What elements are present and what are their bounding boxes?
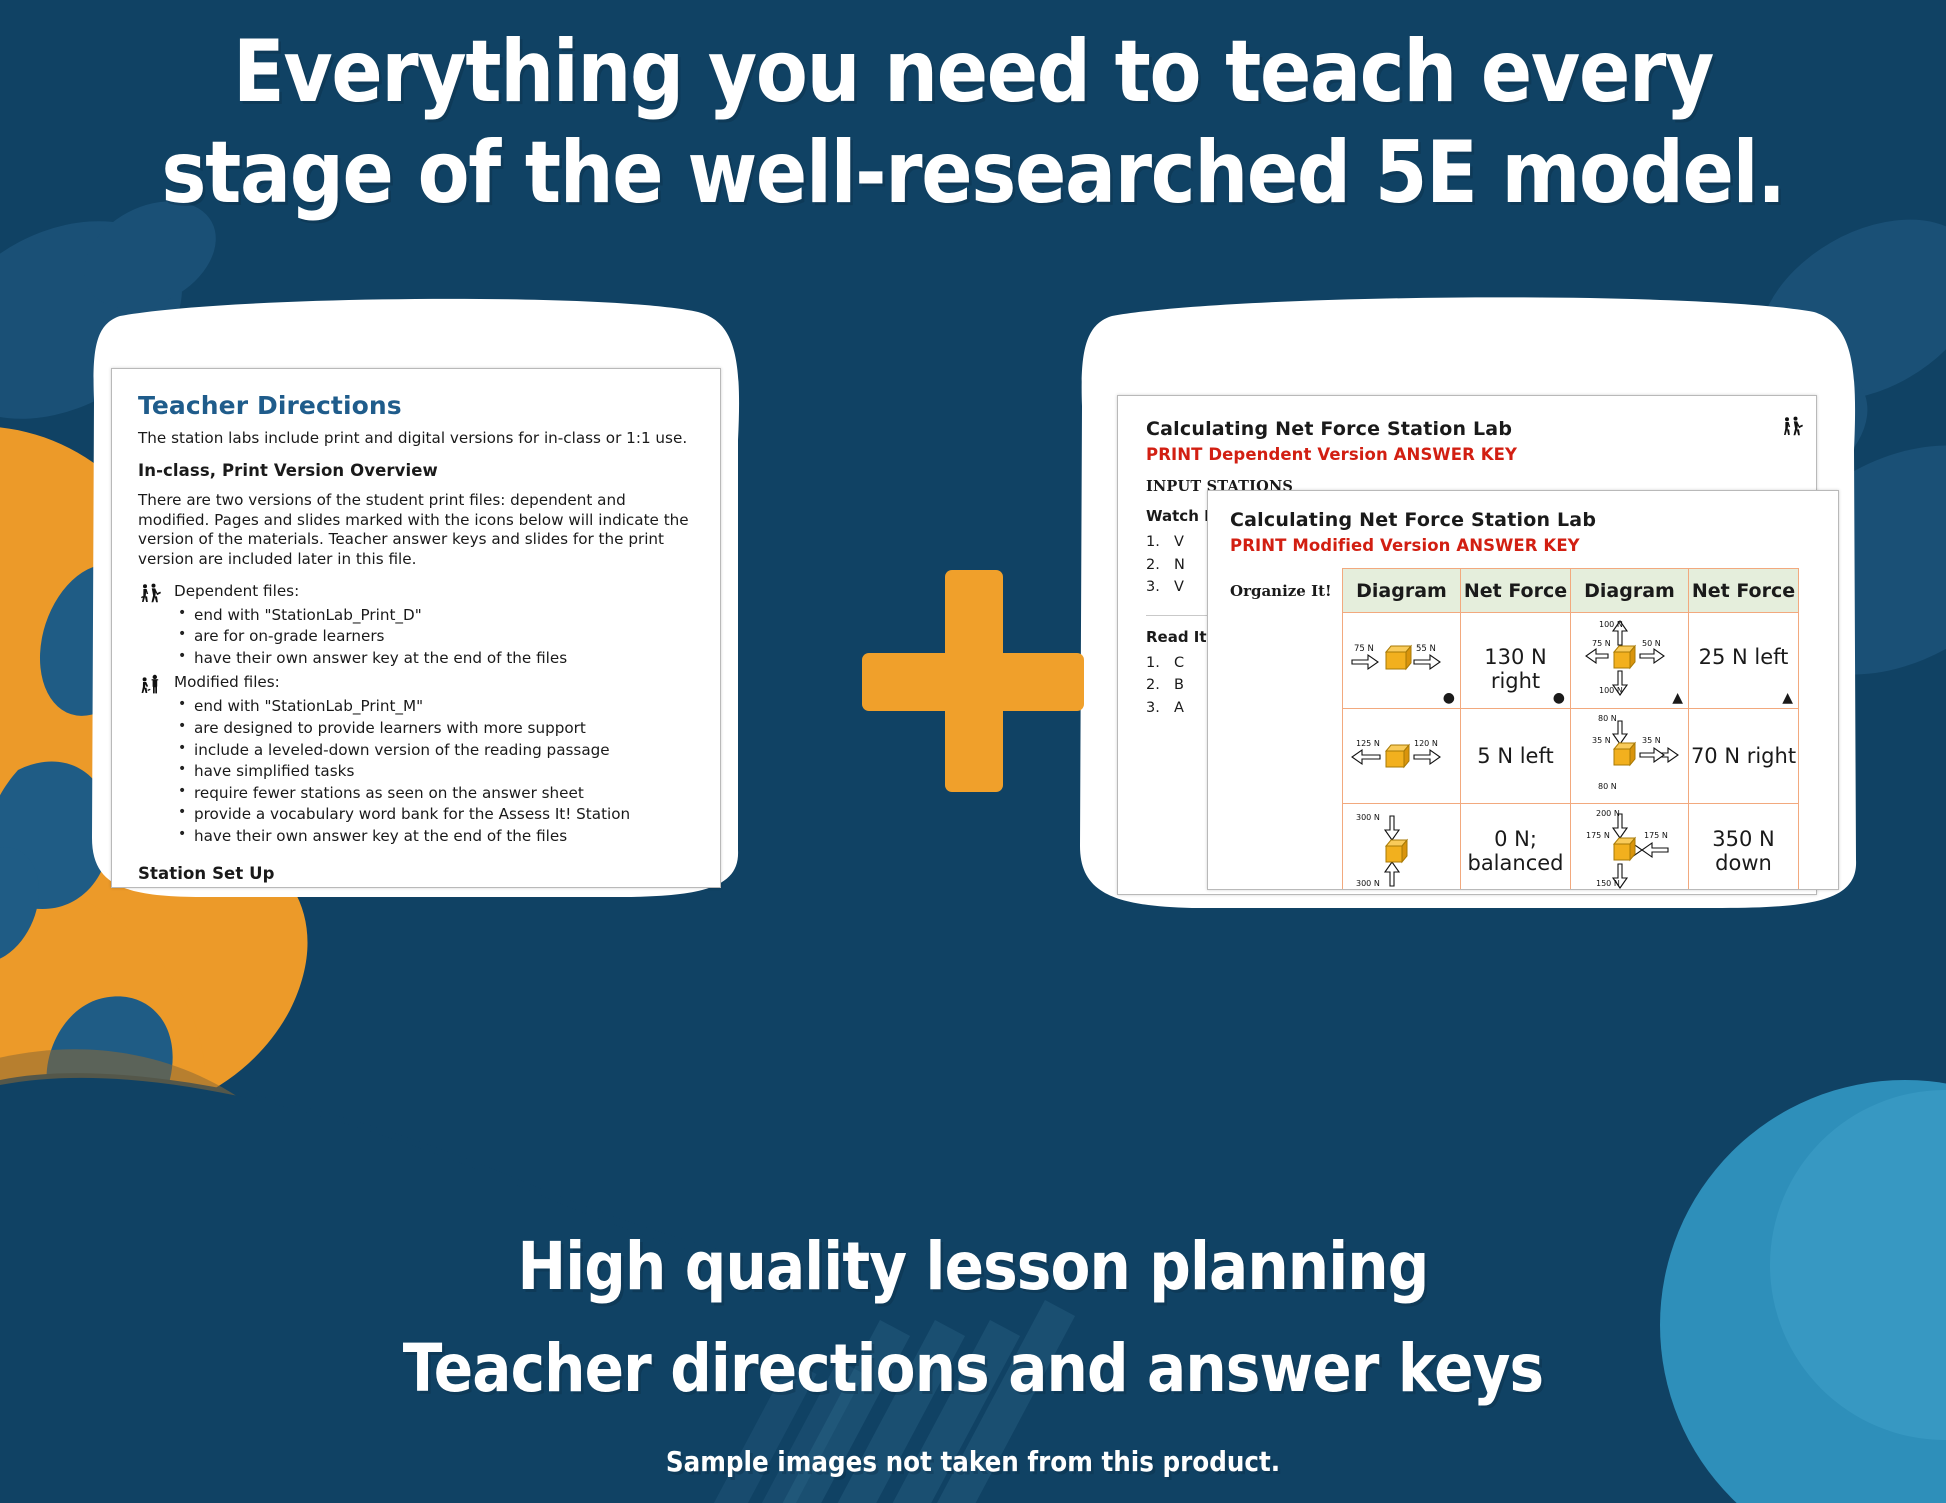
left-doc-section-heading: In-class, Print Version Overview — [138, 461, 694, 480]
bottom-line-1: High quality lesson planning — [117, 1228, 1829, 1305]
net-force-cell: 5 N left — [1461, 709, 1571, 803]
force-diagram: 200 N 150 N 175 N 175 N — [1572, 804, 1688, 890]
people-running-icon — [1782, 416, 1804, 440]
svg-text:75 N: 75 N — [1592, 639, 1611, 648]
back-doc-title: Calculating Net Force Station Lab — [1146, 418, 1788, 440]
right-document-card: Calculating Net Force Station Lab PRINT … — [1072, 290, 1862, 910]
force-diagram: 125 N 120 N — [1344, 711, 1460, 795]
file-group-dependent: Dependent files: — [138, 582, 694, 603]
diagram-cell: 125 N 120 N — [1343, 709, 1461, 803]
modified-file-list: end with "StationLab_Print_M" are design… — [178, 696, 694, 847]
front-doc-subtitle: PRINT Modified Version ANSWER KEY — [1230, 536, 1816, 555]
modified-marker-icon: ▲ — [1782, 691, 1793, 705]
svg-text:300 N: 300 N — [1356, 879, 1380, 888]
file-group-modified: Modified files: — [138, 673, 694, 694]
diagram-cell: 75 N 55 N ● — [1343, 613, 1461, 709]
front-doc-title: Calculating Net Force Station Lab — [1230, 509, 1816, 531]
left-doc-intro: The station labs include print and digit… — [138, 429, 694, 449]
list-item: include a leveled-down version of the re… — [178, 740, 694, 762]
list-item: provide a vocabulary word bank for the A… — [178, 804, 694, 826]
column-header: Net Force — [1461, 569, 1571, 613]
people-running-icon — [138, 582, 164, 603]
list-item: end with "StationLab_Print_D" — [178, 605, 694, 627]
diagram-cell: 300 N 300 N — [1343, 803, 1461, 890]
file-group-label: Dependent files: — [174, 582, 299, 602]
organize-it-table: Diagram Net Force Diagram Net Force — [1342, 568, 1799, 890]
svg-text:80 N: 80 N — [1598, 782, 1617, 791]
table-row: 125 N 120 N 5 N left — [1343, 709, 1799, 803]
force-diagram: 300 N 300 N — [1344, 804, 1460, 890]
svg-text:100 N: 100 N — [1599, 620, 1623, 629]
bottom-line-2: Teacher directions and answer keys — [117, 1330, 1829, 1407]
list-item: have their own answer key at the end of … — [178, 826, 694, 848]
modified-marker-icon: ▲ — [1672, 691, 1683, 705]
svg-text:35 N: 35 N — [1642, 736, 1661, 745]
table-row: 300 N 300 N 0 N; balanced — [1343, 803, 1799, 890]
net-force-value: 25 N left — [1689, 613, 1798, 669]
svg-text:150 N: 150 N — [1596, 879, 1620, 888]
plus-separator-icon — [862, 570, 1084, 792]
headline-line-2: stage of the well-researched 5E model. — [117, 123, 1829, 224]
list-item: have their own answer key at the end of … — [178, 648, 694, 670]
left-doc-section-paragraph: There are two versions of the student pr… — [138, 491, 694, 570]
headline-line-1: Everything you need to teach every — [233, 22, 1713, 122]
svg-text:50 N: 50 N — [1642, 639, 1661, 648]
list-item: require fewer stations as seen on the an… — [178, 783, 694, 805]
net-force-cell: 25 N left ▲ — [1689, 613, 1799, 709]
svg-text:55 N: 55 N — [1416, 644, 1436, 654]
svg-text:120 N: 120 N — [1414, 739, 1438, 748]
svg-text:80 N: 80 N — [1598, 714, 1617, 723]
column-header: Diagram — [1343, 569, 1461, 613]
left-document-card: Teacher Directions The station labs incl… — [86, 290, 746, 900]
force-diagram: 80 N 80 N 35 N 35 N — [1572, 709, 1688, 797]
svg-text:175 N: 175 N — [1586, 831, 1610, 840]
list-item: are designed to provide learners with mo… — [178, 718, 694, 740]
svg-text:35 N: 35 N — [1592, 736, 1611, 745]
svg-text:75 N: 75 N — [1354, 644, 1374, 654]
dependent-marker-icon: ● — [1443, 691, 1455, 705]
diagram-cell: 80 N 80 N 35 N 35 N — [1571, 709, 1689, 803]
left-doc-title: Teacher Directions — [138, 391, 694, 420]
svg-text:125 N: 125 N — [1356, 739, 1380, 748]
column-header: Net Force — [1689, 569, 1799, 613]
net-force-cell: 350 N down — [1689, 803, 1799, 890]
diagram-cell: 200 N 150 N 175 N 175 N — [1571, 803, 1689, 890]
svg-text:100 N: 100 N — [1599, 686, 1623, 695]
net-force-cell: 70 N right — [1689, 709, 1799, 803]
list-item: end with "StationLab_Print_M" — [178, 696, 694, 718]
left-document-page: Teacher Directions The station labs incl… — [111, 368, 721, 888]
dependent-marker-icon: ● — [1553, 691, 1565, 705]
net-force-cell: 0 N; balanced — [1461, 803, 1571, 890]
poster-canvas: Everything you need to teach every stage… — [0, 0, 1946, 1503]
svg-text:175 N: 175 N — [1644, 831, 1668, 840]
column-header: Diagram — [1571, 569, 1689, 613]
net-force-cell: 130 N right ● — [1461, 613, 1571, 709]
file-group-label: Modified files: — [174, 673, 280, 693]
dependent-file-list: end with "StationLab_Print_D" are for on… — [178, 605, 694, 670]
diagram-cell: 100 N 100 N 75 N 50 N ▲ — [1571, 613, 1689, 709]
net-force-value: 130 N right — [1461, 613, 1570, 694]
organize-it-label: Organize It! — [1230, 568, 1342, 600]
table-header-row: Diagram Net Force Diagram Net Force — [1343, 569, 1799, 613]
bottom-disclaimer: Sample images not taken from this produc… — [117, 1445, 1829, 1478]
force-diagram: 100 N 100 N 75 N 50 N — [1572, 613, 1688, 703]
back-doc-subtitle: PRINT Dependent Version ANSWER KEY — [1146, 445, 1788, 464]
table-row: 75 N 55 N ● 130 N right ● — [1343, 613, 1799, 709]
people-assist-icon — [138, 673, 164, 694]
list-item: are for on-grade learners — [178, 626, 694, 648]
list-item: have simplified tasks — [178, 761, 694, 783]
right-front-document-page: Calculating Net Force Station Lab PRINT … — [1207, 490, 1839, 890]
svg-text:200 N: 200 N — [1596, 809, 1620, 818]
left-doc-setup-heading: Station Set Up — [138, 864, 694, 883]
headline: Everything you need to teach every stage… — [117, 22, 1829, 225]
svg-text:300 N: 300 N — [1356, 813, 1380, 822]
